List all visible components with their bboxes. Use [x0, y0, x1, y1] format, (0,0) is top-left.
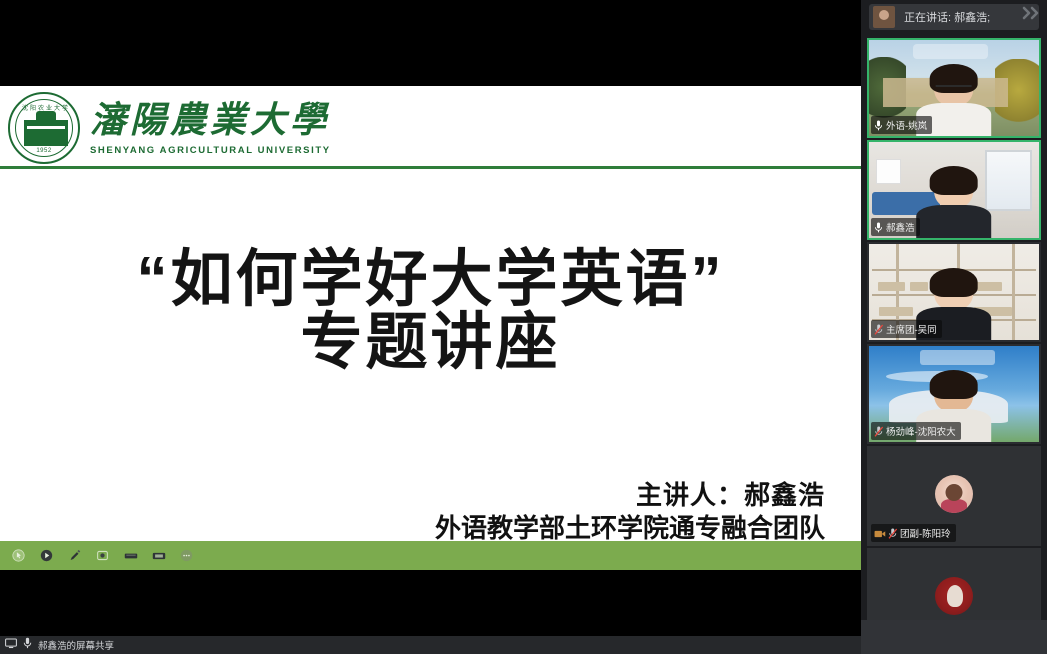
university-name-english: SHENYANG AGRICULTURAL UNIVERSITY	[90, 145, 331, 156]
participant-tile[interactable]: 主席团-吴同	[867, 242, 1041, 342]
screen-share-status-text: 郝鑫浩的屏幕共享	[38, 638, 114, 652]
participant-name: 主席团-吴同	[886, 322, 937, 336]
avatar	[935, 577, 973, 615]
slide-speaker-block: 主讲人：郝鑫浩 外语教学部土环学院通专融合团队	[435, 479, 825, 544]
avatar	[935, 475, 973, 513]
crest-building-shape	[24, 120, 68, 146]
save-icon[interactable]	[150, 547, 167, 564]
microphone-icon	[874, 120, 883, 131]
participant-name-badge: 团副-陈阳玲	[871, 524, 956, 542]
presentation-slide: 沈阳农业大学 1952 瀋陽農業大學 SHENYANG AGRICULTURAL…	[0, 86, 861, 570]
slide-title: “如何学好大学英语” 专题讲座	[0, 248, 861, 374]
microphone-icon	[874, 222, 883, 233]
participant-tile[interactable]: 郝鑫浩	[867, 140, 1041, 240]
participant-panel: 正在讲话: 郝鑫浩;	[861, 0, 1047, 654]
pen-icon[interactable]	[66, 547, 83, 564]
crest-year: 1952	[10, 148, 78, 154]
active-speaker-bar[interactable]: 正在讲话: 郝鑫浩;	[869, 4, 1039, 30]
slide-speaker-team: 外语教学部土环学院通专融合团队	[435, 512, 825, 545]
microphone-muted-icon	[888, 528, 897, 539]
university-crest-icon: 沈阳农业大学 1952	[8, 92, 80, 164]
participant-name: 团副-陈阳玲	[900, 526, 951, 540]
slide-header: 沈阳农业大学 1952 瀋陽農業大學 SHENYANG AGRICULTURAL…	[0, 86, 861, 169]
participant-name: 杨劲峰-沈阳农大	[886, 424, 956, 438]
microphone-icon	[23, 636, 32, 654]
virtual-bg-logo	[913, 44, 988, 59]
eraser-icon[interactable]	[122, 547, 139, 564]
active-speaker-avatar	[873, 6, 895, 28]
more-options-icon[interactable]	[178, 547, 195, 564]
slide-title-line-1: “如何学好大学英语”	[0, 248, 861, 311]
participant-name-badge: 外语-姚岚	[871, 116, 932, 134]
participant-name-badge: 主席团-吴同	[871, 320, 942, 338]
mouse-pointer-icon[interactable]	[10, 547, 27, 564]
participant-name: 外语-姚岚	[886, 118, 927, 132]
participant-name-badge: 杨劲峰-沈阳农大	[871, 422, 961, 440]
slide-title-line-2: 专题讲座	[0, 311, 861, 374]
participant-tile[interactable]: 外语-姚岚	[867, 38, 1041, 138]
participant-name-badge: 郝鑫浩	[871, 218, 920, 236]
room-picture	[876, 159, 902, 184]
university-name-chinese: 瀋陽農業大學	[90, 100, 331, 141]
participant-tile[interactable]: 团副-陈阳玲	[867, 446, 1041, 546]
participant-tile[interactable]: 杨劲峰-沈阳农大	[867, 344, 1041, 444]
shared-screen-area[interactable]: 沈阳农业大学 1952 瀋陽農業大學 SHENYANG AGRICULTURAL…	[0, 0, 861, 654]
microphone-muted-icon	[874, 426, 883, 437]
spotlight-icon[interactable]	[94, 547, 111, 564]
panel-bottom-filler	[861, 620, 1047, 654]
participant-figure	[917, 169, 992, 238]
chevron-double-right-icon[interactable]	[1021, 6, 1043, 24]
laser-pointer-icon[interactable]	[38, 547, 55, 564]
monitor-icon	[5, 636, 17, 654]
annotation-strip	[0, 541, 861, 570]
active-speaker-label: 正在讲话: 郝鑫浩;	[904, 9, 990, 25]
slide-body: “如何学好大学英语” 专题讲座 主讲人：郝鑫浩 外语教学部土环学院通专融合团队	[0, 172, 861, 570]
meeting-screen-share-window: 沈阳农业大学 1952 瀋陽農業大學 SHENYANG AGRICULTURAL…	[0, 0, 1047, 654]
university-name-block: 瀋陽農業大學 SHENYANG AGRICULTURAL UNIVERSITY	[90, 100, 331, 155]
camera-off-icon	[874, 529, 885, 538]
virtual-bg-logo	[920, 350, 995, 365]
annotation-toolbar[interactable]	[10, 541, 195, 570]
screen-share-status-bar: 郝鑫浩的屏幕共享	[0, 636, 861, 654]
participant-name: 郝鑫浩	[886, 220, 915, 234]
microphone-muted-icon	[874, 324, 883, 335]
university-logo: 沈阳农业大学 1952 瀋陽農業大學 SHENYANG AGRICULTURAL…	[8, 92, 331, 164]
slide-speaker-name: 主讲人：郝鑫浩	[435, 479, 825, 512]
room-window	[985, 150, 1033, 211]
